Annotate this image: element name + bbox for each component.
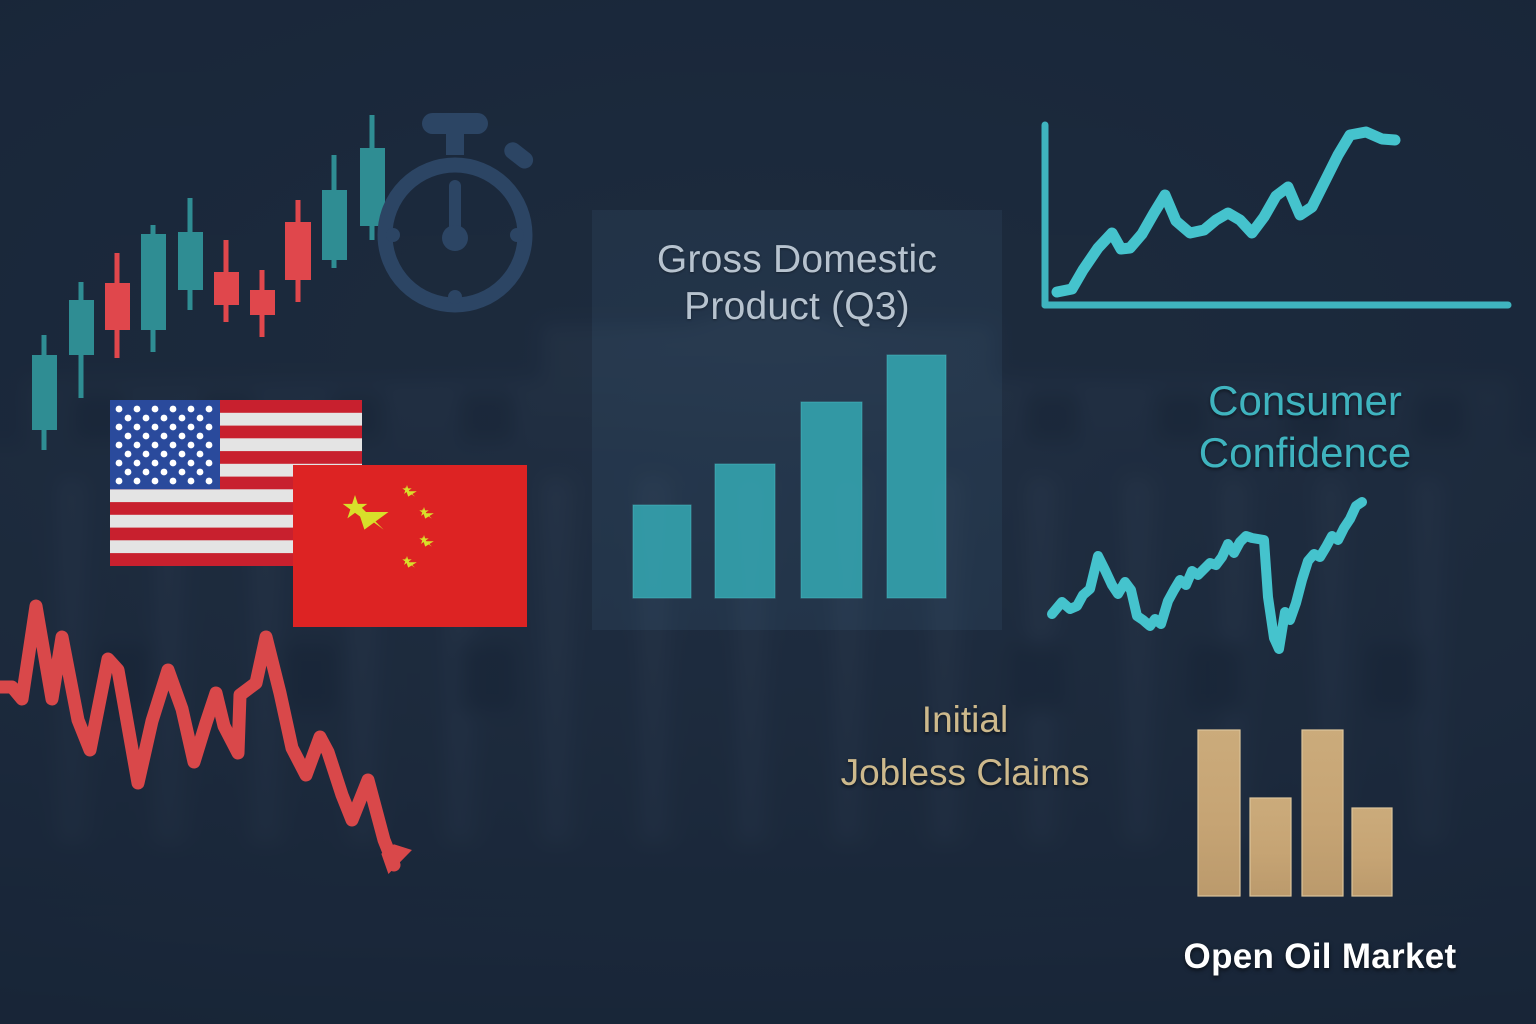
open-oil-market-label: Open Oil Market bbox=[1120, 937, 1520, 977]
initial-jobless-claims-label: Initial Jobless Claims bbox=[760, 693, 1170, 799]
trend-line bbox=[1057, 132, 1395, 292]
confidence-detail-line bbox=[1052, 502, 1362, 649]
oil-market-bar-chart bbox=[1190, 715, 1420, 915]
oil-bar-1 bbox=[1198, 730, 1240, 896]
jobless-line1: Initial bbox=[760, 693, 1170, 746]
declining-line bbox=[0, 606, 394, 865]
gdp-bar-4 bbox=[887, 355, 946, 598]
gdp-bar-chart bbox=[592, 210, 1012, 630]
consumer-confidence-line2: Confidence bbox=[1110, 427, 1500, 479]
infographic-canvas: Gross Domestic Product (Q3) Consumer Con… bbox=[0, 0, 1536, 1024]
consumer-confidence-line1: Consumer bbox=[1110, 375, 1500, 427]
consumer-confidence-label: Consumer Confidence bbox=[1110, 375, 1500, 479]
declining-market-trend-chart bbox=[0, 575, 790, 935]
jobless-line2: Jobless Claims bbox=[760, 746, 1170, 799]
stopwatch-icon bbox=[360, 105, 550, 310]
oil-bar-3 bbox=[1302, 730, 1343, 896]
chart-axes bbox=[1045, 125, 1508, 305]
oil-bar-2 bbox=[1250, 798, 1291, 896]
oil-bar-4 bbox=[1352, 808, 1392, 896]
consumer-confidence-detail-chart bbox=[1040, 490, 1536, 670]
gdp-bar-3 bbox=[801, 402, 862, 598]
consumer-confidence-trend-chart bbox=[1020, 70, 1536, 330]
